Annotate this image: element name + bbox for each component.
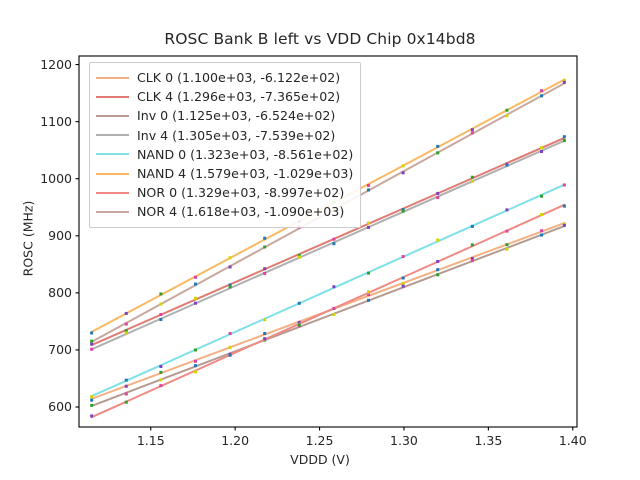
- data-point: [90, 340, 93, 343]
- data-point: [159, 384, 162, 387]
- x-tick-label: 1.20: [205, 433, 265, 448]
- data-point: [436, 192, 439, 195]
- data-point: [505, 208, 508, 211]
- data-point: [263, 267, 266, 270]
- legend-item: CLK 4 (1.296e+03, -7.365e+02): [96, 87, 353, 106]
- legend-label: CLK 4 (1.296e+03, -7.365e+02): [137, 89, 340, 104]
- data-point: [229, 332, 232, 335]
- data-point: [263, 332, 266, 335]
- data-point: [402, 255, 405, 258]
- x-tick-label: 1.15: [121, 433, 181, 448]
- data-point: [90, 395, 93, 398]
- data-point: [563, 81, 566, 84]
- data-point: [125, 323, 128, 326]
- legend-item: Inv 4 (1.305e+03, -7.539e+02): [96, 126, 353, 145]
- data-point: [90, 404, 93, 407]
- data-point: [90, 348, 93, 351]
- y-tick-label: 800: [24, 285, 72, 300]
- legend-item: NAND 0 (1.323e+03, -8.561e+02): [96, 145, 353, 164]
- data-point: [540, 234, 543, 237]
- data-point: [125, 379, 128, 382]
- legend-label: NAND 4 (1.579e+03, -1.029e+03): [137, 166, 353, 181]
- data-point: [563, 135, 566, 138]
- data-point: [505, 164, 508, 167]
- legend-label: Inv 0 (1.125e+03, -6.524e+02): [137, 108, 335, 123]
- data-point: [540, 150, 543, 153]
- chart-title: ROSC Bank B left vs VDD Chip 0x14bd8: [0, 30, 640, 48]
- data-point: [402, 282, 405, 285]
- series-line-nor-0: [92, 205, 565, 417]
- data-point: [471, 180, 474, 183]
- legend-item: NOR 4 (1.618e+03, -1.090e+03): [96, 202, 353, 221]
- data-point: [540, 195, 543, 198]
- legend-color-swatch: [96, 96, 129, 98]
- data-point: [332, 242, 335, 245]
- legend-color-swatch: [96, 173, 129, 175]
- data-point: [402, 171, 405, 174]
- legend-item: NOR 0 (1.329e+03, -8.997e+02): [96, 183, 353, 202]
- chart-figure: ROSC Bank B left vs VDD Chip 0x14bd8 VDD…: [0, 0, 640, 480]
- data-point: [298, 256, 301, 259]
- y-tick-label: 1000: [24, 171, 72, 186]
- series-line-inv-0: [92, 226, 565, 406]
- data-point: [367, 221, 370, 224]
- data-point: [229, 346, 232, 349]
- data-point: [125, 385, 128, 388]
- legend-item: CLK 0 (1.100e+03, -6.122e+02): [96, 68, 353, 87]
- data-point: [159, 318, 162, 321]
- data-point: [159, 292, 162, 295]
- data-point: [194, 364, 197, 367]
- legend-label: Inv 4 (1.305e+03, -7.539e+02): [137, 128, 335, 143]
- data-point: [471, 176, 474, 179]
- legend-color-swatch: [96, 115, 129, 117]
- data-point: [563, 139, 566, 142]
- data-point: [194, 348, 197, 351]
- data-point: [471, 128, 474, 131]
- data-point: [159, 378, 162, 381]
- data-point: [298, 323, 301, 326]
- data-point: [194, 302, 197, 305]
- data-point: [125, 331, 128, 334]
- data-point: [90, 399, 93, 402]
- data-point: [436, 151, 439, 154]
- data-point: [367, 226, 370, 229]
- data-point: [402, 285, 405, 288]
- x-tick-label: 1.30: [374, 433, 434, 448]
- chart-legend: CLK 0 (1.100e+03, -6.122e+02)CLK 4 (1.29…: [89, 62, 361, 228]
- data-point: [263, 318, 266, 321]
- data-point: [540, 146, 543, 149]
- data-point: [194, 276, 197, 279]
- x-tick-label: 1.25: [290, 433, 350, 448]
- legend-item: NAND 4 (1.579e+03, -1.029e+03): [96, 164, 353, 183]
- data-point: [471, 225, 474, 228]
- data-point: [90, 414, 93, 417]
- data-point: [263, 337, 266, 340]
- data-point: [263, 272, 266, 275]
- data-point: [263, 237, 266, 240]
- x-tick-label: 1.35: [458, 433, 518, 448]
- data-point: [471, 243, 474, 246]
- data-point: [436, 196, 439, 199]
- data-point: [436, 260, 439, 263]
- data-point: [563, 183, 566, 186]
- legend-label: NAND 0 (1.323e+03, -8.561e+02): [137, 147, 353, 162]
- data-point: [402, 277, 405, 280]
- data-point: [471, 259, 474, 262]
- legend-label: CLK 0 (1.100e+03, -6.122e+02): [137, 70, 340, 85]
- data-point: [540, 229, 543, 232]
- data-point: [90, 343, 93, 346]
- data-point: [540, 94, 543, 97]
- data-point: [436, 273, 439, 276]
- data-point: [367, 188, 370, 191]
- x-axis-label: VDDD (V): [0, 452, 640, 467]
- y-tick-label: 1200: [24, 57, 72, 72]
- data-point: [159, 371, 162, 374]
- legend-label: NOR 4 (1.618e+03, -1.090e+03): [137, 204, 344, 219]
- data-point: [367, 299, 370, 302]
- data-point: [402, 164, 405, 167]
- data-point: [263, 245, 266, 248]
- data-point: [505, 109, 508, 112]
- data-point: [194, 370, 197, 373]
- data-point: [298, 302, 301, 305]
- data-point: [505, 243, 508, 246]
- data-point: [194, 283, 197, 286]
- data-point: [436, 145, 439, 148]
- legend-item: Inv 0 (1.125e+03, -6.524e+02): [96, 106, 353, 125]
- y-tick-label: 1100: [24, 114, 72, 129]
- data-point: [540, 89, 543, 92]
- data-point: [159, 365, 162, 368]
- legend-color-swatch: [96, 77, 129, 79]
- data-point: [159, 303, 162, 306]
- data-point: [125, 401, 128, 404]
- data-point: [505, 248, 508, 251]
- data-point: [332, 307, 335, 310]
- data-point: [194, 360, 197, 363]
- data-point: [194, 297, 197, 300]
- data-point: [332, 285, 335, 288]
- legend-color-swatch: [96, 153, 129, 155]
- data-point: [229, 256, 232, 259]
- data-point: [505, 114, 508, 117]
- data-point: [229, 285, 232, 288]
- data-point: [540, 213, 543, 216]
- data-point: [229, 265, 232, 268]
- data-point: [159, 313, 162, 316]
- data-point: [505, 230, 508, 233]
- data-point: [436, 268, 439, 271]
- data-point: [90, 331, 93, 334]
- y-tick-label: 600: [24, 399, 72, 414]
- data-point: [125, 393, 128, 396]
- data-point: [332, 238, 335, 241]
- data-point: [332, 313, 335, 316]
- data-point: [367, 290, 370, 293]
- data-point: [471, 131, 474, 134]
- data-point: [125, 312, 128, 315]
- y-tick-label: 900: [24, 228, 72, 243]
- data-point: [563, 205, 566, 208]
- data-point: [367, 184, 370, 187]
- data-point: [367, 272, 370, 275]
- legend-color-swatch: [96, 134, 129, 136]
- x-tick-label: 1.40: [543, 433, 603, 448]
- legend-color-swatch: [96, 211, 129, 213]
- data-point: [563, 224, 566, 227]
- data-point: [402, 210, 405, 213]
- data-point: [436, 239, 439, 242]
- y-tick-label: 700: [24, 342, 72, 357]
- legend-label: NOR 0 (1.329e+03, -8.997e+02): [137, 185, 344, 200]
- legend-color-swatch: [96, 192, 129, 194]
- data-point: [229, 354, 232, 357]
